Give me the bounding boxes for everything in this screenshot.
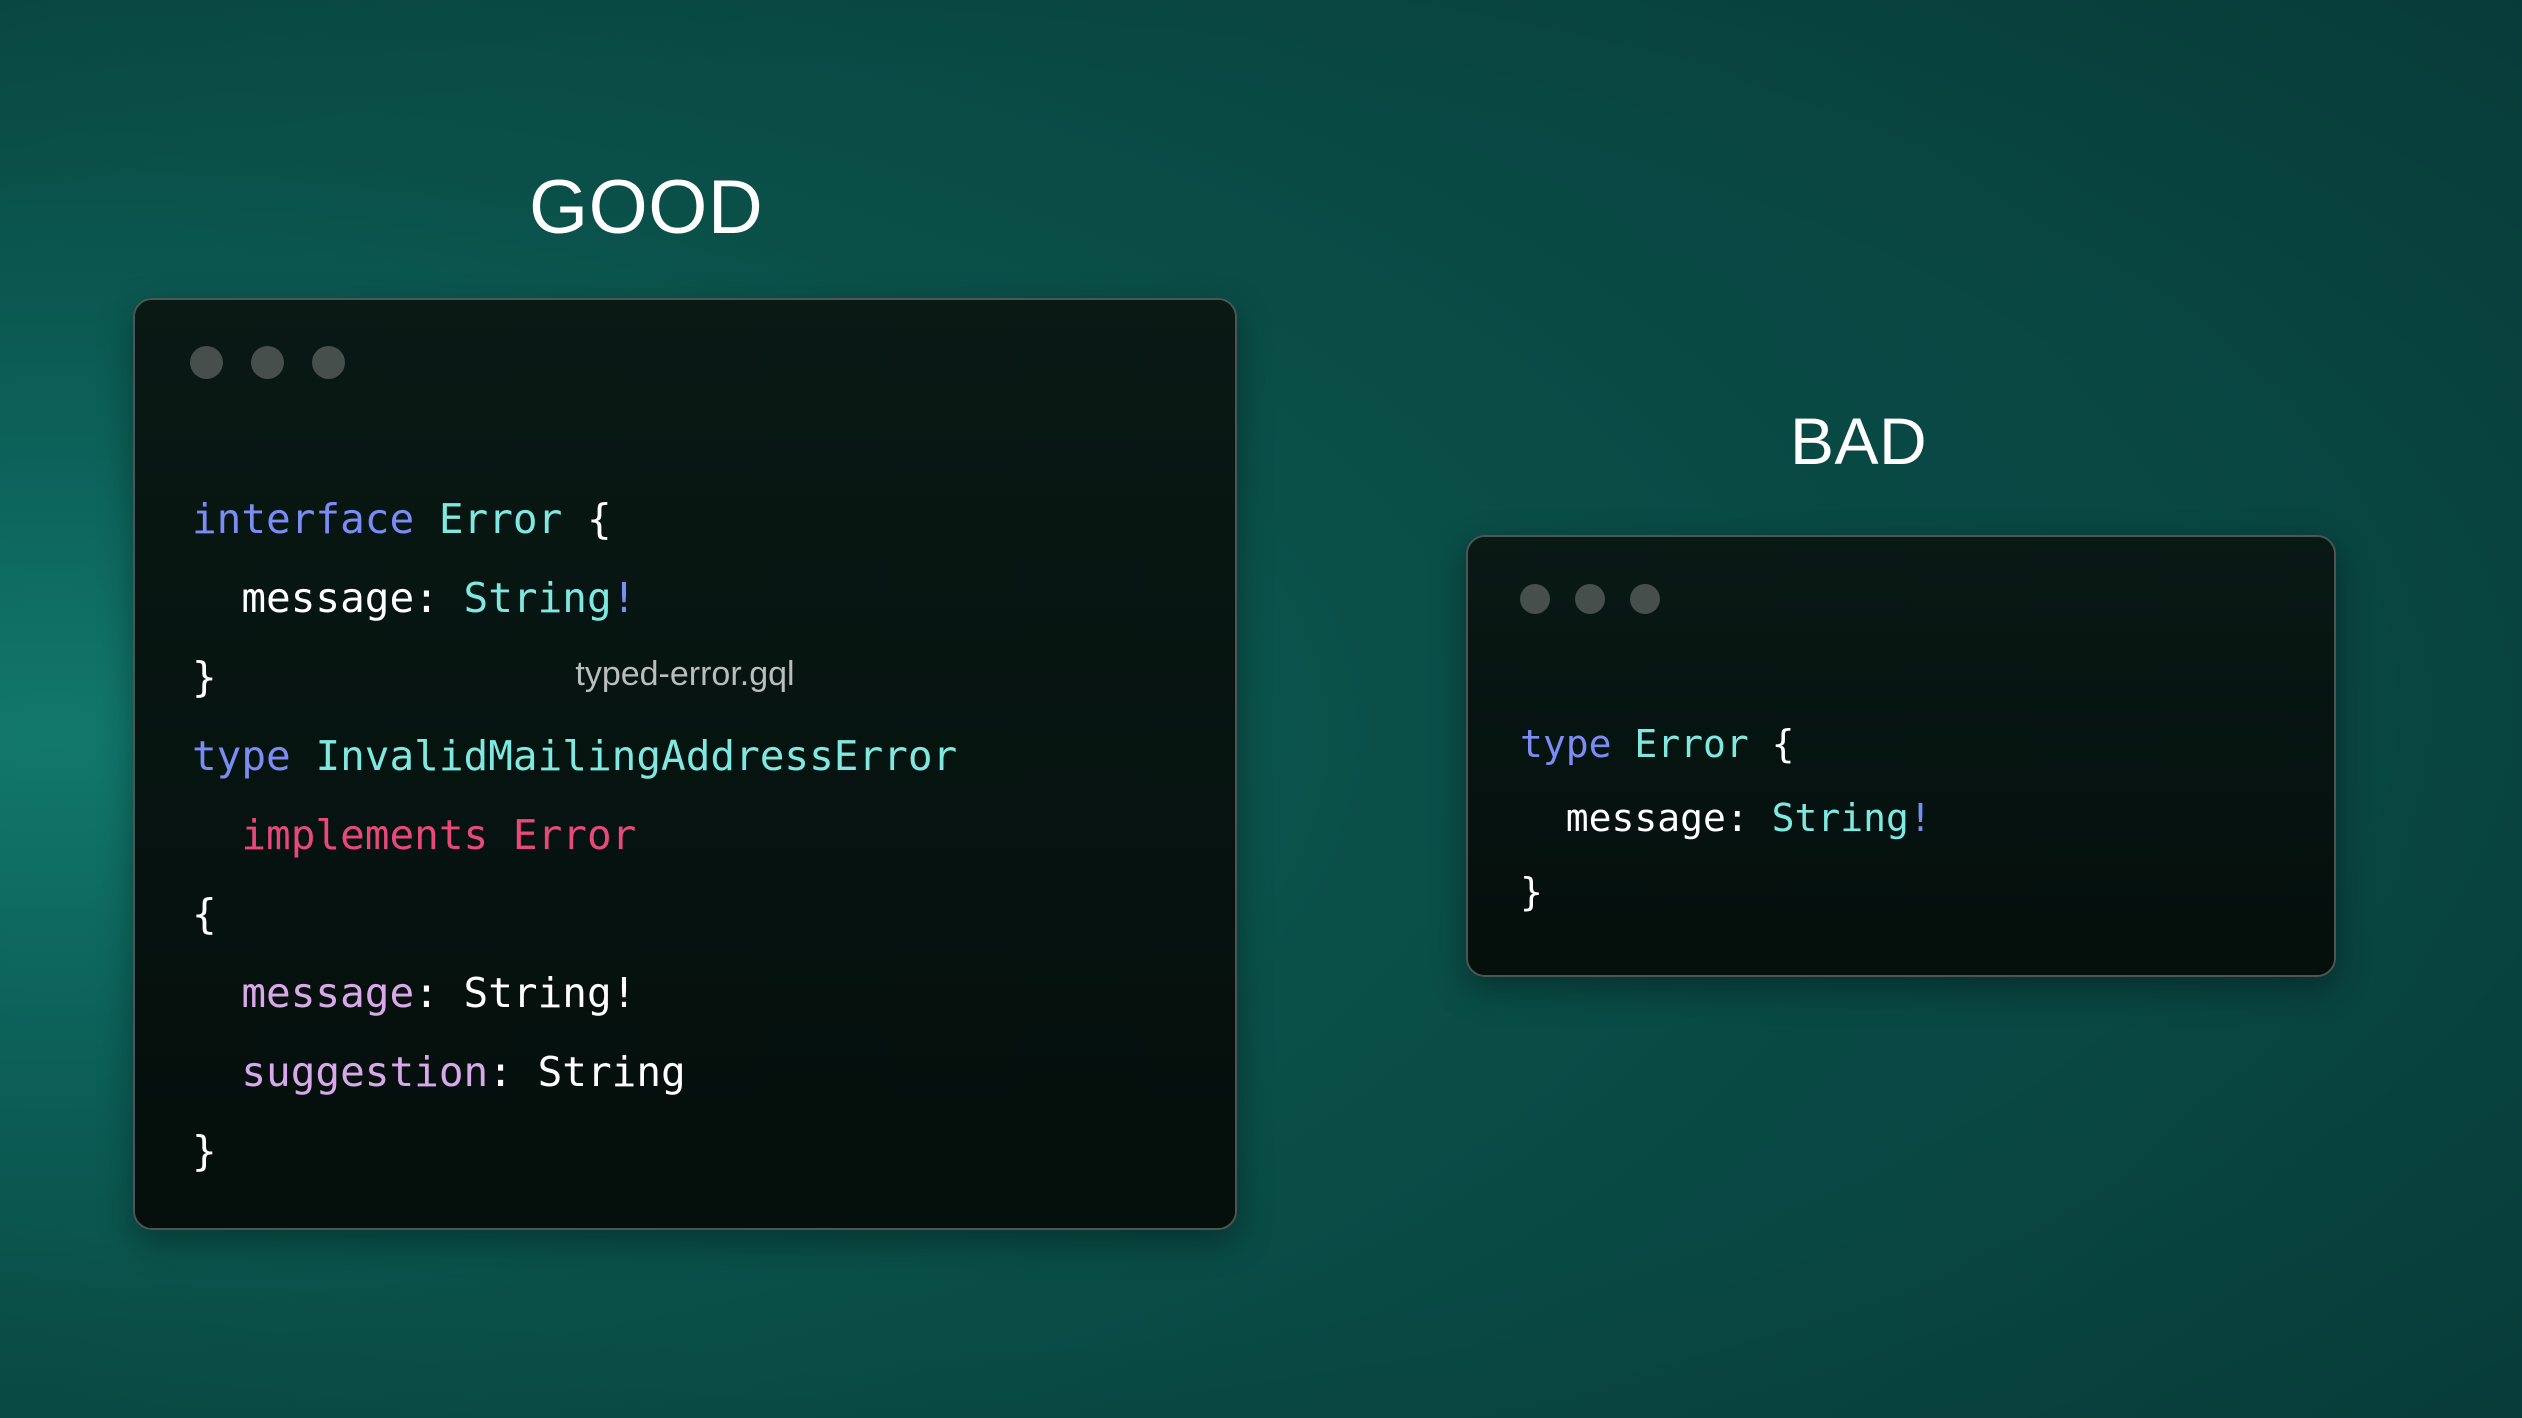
section-label-bad: BAD <box>1790 408 1927 474</box>
code-token-plain: : <box>1726 796 1772 840</box>
code-token-str: String <box>1772 796 1909 840</box>
code-token-plain: : <box>414 969 463 1017</box>
code-token-plain: String <box>538 1048 686 1096</box>
code-token-plain: message <box>192 574 414 622</box>
window-dot-maximize[interactable] <box>312 346 345 379</box>
code-line: } <box>192 1112 1235 1191</box>
code-token-plain: { <box>562 495 611 543</box>
window-dot-minimize[interactable] <box>251 346 284 379</box>
code-window-good: typed-error.gql interface Error { messag… <box>133 298 1237 1230</box>
code-line: message: String! <box>1520 781 2334 855</box>
code-token-plain <box>1612 722 1635 766</box>
code-line: } <box>1520 855 2334 929</box>
section-label-good: GOOD <box>529 170 763 246</box>
code-token-bang: ! <box>1909 796 1932 840</box>
code-token-plain: } <box>1520 870 1543 914</box>
code-line: interface Error { <box>192 480 1235 559</box>
code-token-str: String <box>464 574 612 622</box>
code-token-plain <box>414 495 439 543</box>
code-line: type Error { <box>1520 707 2334 781</box>
code-token-type: Error <box>1634 722 1748 766</box>
window-dot-maximize[interactable] <box>1630 584 1660 614</box>
code-token-plain: { <box>192 890 217 938</box>
titlebar-bad <box>1468 584 2334 614</box>
code-line: suggestion: String <box>192 1033 1235 1112</box>
code-token-plain: } <box>192 653 217 701</box>
window-dots-bad <box>1520 584 1685 614</box>
code-line: } <box>192 638 1235 717</box>
code-token-kw: type <box>192 732 291 780</box>
code-token-type: Error <box>439 495 562 543</box>
code-token-field: suggestion <box>192 1048 488 1096</box>
code-token-bang: ! <box>612 574 637 622</box>
window-dot-minimize[interactable] <box>1575 584 1605 614</box>
code-token-kw: type <box>1520 722 1612 766</box>
code-token-plain: } <box>192 1127 217 1175</box>
titlebar-good <box>135 346 1235 379</box>
code-line: implements Error <box>192 796 1235 875</box>
code-block-bad: type Error { message: String!} <box>1468 707 2334 929</box>
code-token-plain: message <box>1520 796 1726 840</box>
code-line: type InvalidMailingAddressError <box>192 717 1235 796</box>
code-token-plain: : <box>414 574 463 622</box>
code-block-good: interface Error { message: String!}type … <box>135 480 1235 1191</box>
code-line: message: String! <box>192 559 1235 638</box>
code-window-bad: error-type.gql type Error { message: Str… <box>1466 535 2336 977</box>
window-dots-good <box>190 346 373 379</box>
window-dot-close[interactable] <box>1520 584 1550 614</box>
code-token-plain: String! <box>464 969 637 1017</box>
code-line: message: String! <box>192 954 1235 1033</box>
window-dot-close[interactable] <box>190 346 223 379</box>
code-token-plain <box>291 732 316 780</box>
code-line: { <box>192 875 1235 954</box>
code-token-type: InvalidMailingAddressError <box>315 732 957 780</box>
code-token-kw: interface <box>192 495 414 543</box>
code-token-field: message <box>192 969 414 1017</box>
code-token-plain: { <box>1749 722 1795 766</box>
code-token-impl: implements Error <box>192 811 636 859</box>
code-token-plain: : <box>488 1048 537 1096</box>
